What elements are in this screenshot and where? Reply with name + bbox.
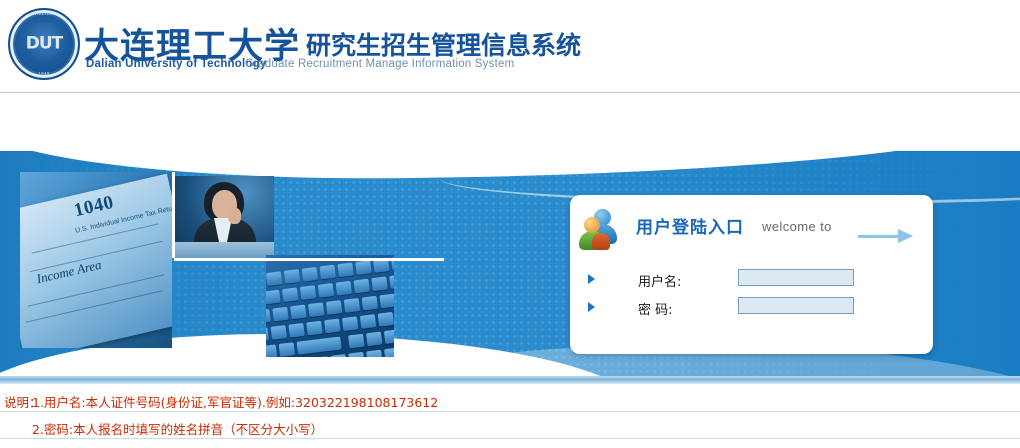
seal-ring-top-text: DALIAN UNIVERSITY OF TECHNOLOGY bbox=[10, 11, 78, 16]
university-seal-logo: DALIAN UNIVERSITY OF TECHNOLOGY DUT 1949 bbox=[8, 8, 80, 80]
password-label: 密 码: bbox=[638, 299, 673, 318]
password-field-row: 密 码: bbox=[586, 297, 916, 319]
woman-on-phone-photo bbox=[174, 176, 274, 258]
tax-form-photo: 1040 U.S. Individual Income Tax Return I… bbox=[20, 172, 172, 348]
username-label: 用户名: bbox=[638, 271, 681, 290]
blue-keyboard-photo bbox=[266, 255, 394, 357]
page-root: DALIAN UNIVERSITY OF TECHNOLOGY DUT 1949… bbox=[0, 0, 1020, 448]
username-field-row: 用户名: bbox=[586, 269, 916, 291]
instructions-divider-2 bbox=[0, 438, 1020, 439]
hero-bottom-band bbox=[0, 376, 1020, 384]
password-input[interactable] bbox=[738, 297, 854, 314]
collage-divider-vertical bbox=[172, 172, 175, 258]
username-input[interactable] bbox=[738, 269, 854, 286]
bullet-icon bbox=[588, 302, 595, 312]
title-university-en: Dalian University of Technology bbox=[86, 58, 266, 70]
site-header: DALIAN UNIVERSITY OF TECHNOLOGY DUT 1949… bbox=[0, 0, 1020, 93]
bullet-icon bbox=[588, 274, 595, 284]
seal-glyph: DUT bbox=[26, 34, 63, 54]
login-welcome-text: welcome to bbox=[762, 219, 832, 234]
instruction-line-2: 2.密码:本人报名时填写的姓名拼音（不区分大小写） bbox=[32, 419, 323, 438]
users-icon bbox=[582, 207, 628, 253]
instructions-divider-1 bbox=[0, 411, 1020, 412]
collage-divider-top bbox=[174, 258, 444, 261]
collage-divider-bottom bbox=[266, 357, 444, 360]
login-panel-title: 用户登陆入口 bbox=[636, 213, 744, 238]
person-hand bbox=[228, 208, 241, 224]
arrow-right-icon bbox=[858, 229, 914, 243]
seal-ring-bottom-text: 1949 bbox=[10, 71, 78, 76]
keyboard-keys bbox=[266, 255, 394, 357]
desk-surface bbox=[174, 242, 274, 258]
title-system-en: Graduate Recruitment Manage Information … bbox=[245, 58, 514, 70]
title-system-cn: 研究生招生管理信息系统 bbox=[306, 31, 581, 60]
login-panel: 用户登陆入口 welcome to 用户名: 密 码: bbox=[570, 195, 933, 354]
instruction-line-1: 1.用户名:本人证件号码(身份证,军官证等).例如:32032219810817… bbox=[32, 392, 438, 411]
instructions-section: 说明： 1.用户名:本人证件号码(身份证,军官证等).例如:3203221981… bbox=[0, 386, 1020, 448]
